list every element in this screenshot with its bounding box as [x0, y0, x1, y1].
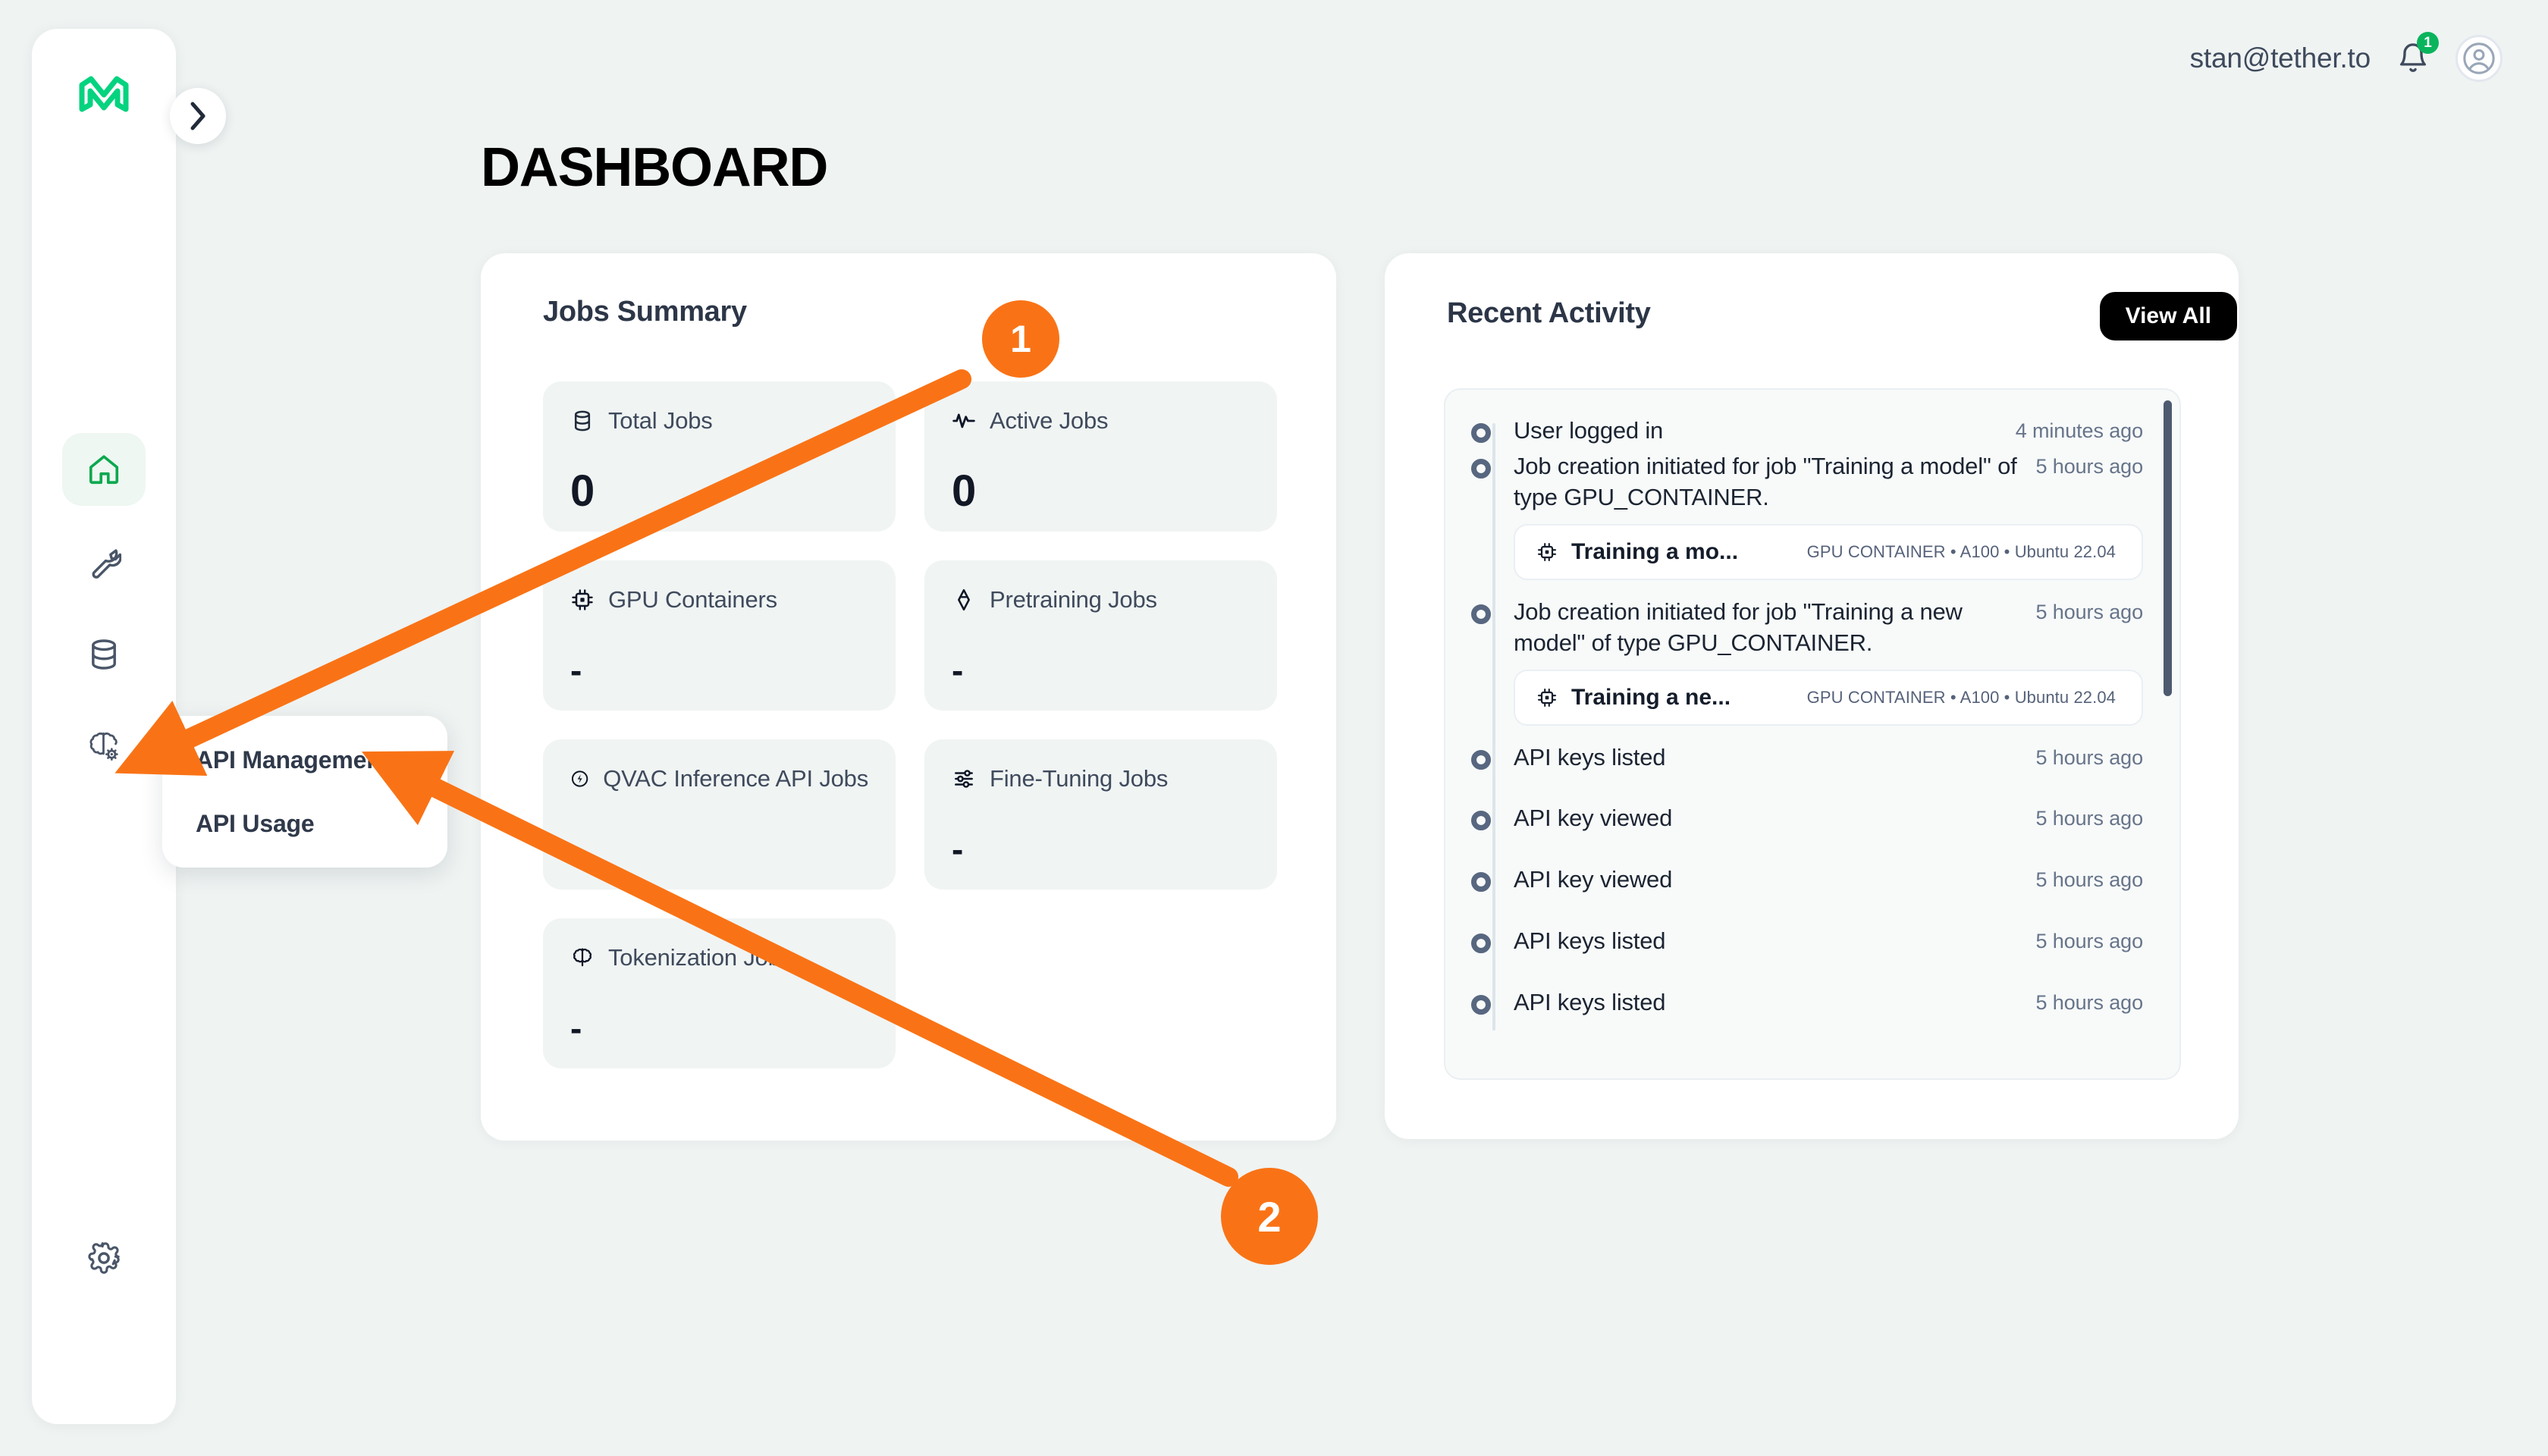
gear-icon [86, 1241, 121, 1276]
cpu-icon [1536, 541, 1558, 563]
page-title: DASHBOARD [481, 136, 827, 199]
stat-tile-total-jobs[interactable]: Total Jobs 0 [543, 381, 896, 532]
view-all-button[interactable]: View All [2100, 292, 2237, 340]
job-chip-meta: GPU CONTAINER • A100 • Ubuntu 22.04 [1807, 688, 2116, 708]
home-icon [86, 452, 121, 487]
sidebar-item-settings[interactable] [32, 1212, 176, 1304]
stat-tile-label: Tokenization Jobs [608, 944, 792, 971]
timeline-dot-icon [1471, 750, 1491, 770]
sidebar-logo[interactable] [32, 76, 176, 114]
brain-icon [570, 946, 595, 970]
activity-time: 5 hours ago [2035, 451, 2143, 479]
activity-time: 5 hours ago [2035, 864, 2143, 892]
cpu-icon [570, 588, 595, 612]
api-management-flyout-menu: API Management API Usage [162, 716, 447, 868]
stat-tile-value: - [952, 653, 963, 688]
timeline-dot-icon [1471, 811, 1491, 830]
activity-text: API key viewed [1514, 864, 1672, 896]
stat-tile-value: - [952, 832, 963, 867]
stat-tile-label: Active Jobs [990, 407, 1108, 435]
stat-tile-pretraining-jobs[interactable]: Pretraining Jobs - [924, 560, 1277, 711]
brain-gear-icon [86, 729, 122, 765]
database-icon [570, 409, 595, 433]
recent-activity-title: Recent Activity [1447, 297, 1651, 330]
stat-tile-label: Total Jobs [608, 407, 713, 435]
sidebar-item-api-management[interactable] [32, 701, 176, 793]
sidebar [32, 29, 176, 1424]
activity-feed-scrollbar[interactable] [2164, 400, 2172, 696]
activity-item[interactable]: API keys listed 5 hours ago [1479, 987, 2143, 1018]
app-root: stan@tether.to 1 DASHBOARD Jobs Summary [0, 0, 2548, 1456]
stat-tile-value: - [570, 832, 582, 867]
user-avatar-icon [2462, 41, 2496, 76]
activity-time: 5 hours ago [2035, 926, 2143, 953]
cpu-icon [1536, 687, 1558, 708]
activity-time: 5 hours ago [2035, 803, 2143, 830]
activity-time: 4 minutes ago [2016, 416, 2143, 443]
activity-text: Job creation initiated for job "Training… [1514, 451, 2017, 513]
activity-feed: User logged in 4 minutes ago Job creatio… [1444, 388, 2181, 1080]
wrench-icon [86, 544, 121, 579]
stat-tile-label: Fine-Tuning Jobs [990, 765, 1168, 792]
stat-tile-label: GPU Containers [608, 586, 777, 613]
sidebar-collapse-button[interactable] [170, 88, 226, 144]
sidebar-item-tools[interactable] [32, 516, 176, 608]
timeline-dot-icon [1471, 604, 1491, 624]
timeline-dot-icon [1471, 872, 1491, 892]
stat-tile-fine-tuning-jobs[interactable]: Fine-Tuning Jobs - [924, 739, 1277, 890]
avatar[interactable] [2455, 35, 2502, 82]
stat-tile-tokenization-jobs[interactable]: Tokenization Jobs - [543, 918, 896, 1068]
stat-tile-gpu-containers[interactable]: GPU Containers - [543, 560, 896, 711]
notification-badge: 1 [2417, 32, 2439, 54]
activity-time: 5 hours ago [2035, 987, 2143, 1015]
diamond-icon [952, 588, 976, 612]
activity-item[interactable]: API key viewed 5 hours ago [1479, 803, 2143, 834]
activity-icon [952, 409, 976, 433]
activity-text: API keys listed [1514, 987, 1665, 1018]
activity-text: User logged in [1514, 416, 1663, 447]
activity-item[interactable]: Job creation initiated for job "Training… [1479, 451, 2143, 580]
activity-item[interactable]: API key viewed 5 hours ago [1479, 864, 2143, 896]
stat-tile-value: - [570, 653, 582, 688]
activity-item[interactable]: API keys listed 5 hours ago [1479, 742, 2143, 773]
sidebar-nav [32, 423, 176, 793]
activity-time: 5 hours ago [2035, 742, 2143, 770]
stat-tile-active-jobs[interactable]: Active Jobs 0 [924, 381, 1277, 532]
sidebar-item-storage[interactable] [32, 608, 176, 701]
chevron-right-icon [188, 100, 208, 132]
tether-infinity-logo [76, 76, 132, 114]
sidebar-item-dashboard[interactable] [32, 423, 176, 516]
jobs-summary-title: Jobs Summary [543, 296, 747, 328]
timeline-dot-icon [1471, 423, 1491, 443]
activity-text: API keys listed [1514, 742, 1665, 773]
job-chip-name: Training a mo... [1571, 539, 1738, 565]
job-chip-meta: GPU CONTAINER • A100 • Ubuntu 22.04 [1807, 542, 2116, 562]
activity-item[interactable]: User logged in 4 minutes ago [1479, 416, 2143, 447]
database-icon [86, 637, 121, 672]
sliders-icon [952, 767, 976, 791]
timeline-dot-icon [1471, 459, 1491, 479]
activity-time: 5 hours ago [2035, 597, 2143, 624]
activity-item[interactable]: API keys listed 5 hours ago [1479, 926, 2143, 957]
topbar: stan@tether.to 1 [2190, 35, 2502, 82]
flyout-item-api-management[interactable]: API Management [196, 748, 414, 772]
annotation-marker-2: 2 [1221, 1168, 1318, 1265]
activity-job-chip[interactable]: Training a mo... GPU CONTAINER • A100 • … [1514, 524, 2143, 580]
notifications-button[interactable]: 1 [2392, 37, 2434, 80]
stat-tile-value: - [570, 1011, 582, 1046]
stat-tile-label: Pretraining Jobs [990, 586, 1157, 613]
stat-tile-qvac-inference-api-jobs[interactable]: QVAC Inference API Jobs - [543, 739, 896, 890]
activity-text: API keys listed [1514, 926, 1665, 957]
user-email-label: stan@tether.to [2190, 42, 2371, 74]
bolt-circle-icon [570, 767, 589, 791]
annotation-marker-1: 1 [982, 300, 1059, 378]
stat-tile-value: 0 [570, 469, 595, 513]
job-chip-name: Training a ne... [1571, 685, 1731, 711]
activity-job-chip[interactable]: Training a ne... GPU CONTAINER • A100 • … [1514, 670, 2143, 726]
jobs-summary-tiles: Total Jobs 0 Active Jobs 0 [543, 381, 1277, 1068]
activity-item[interactable]: Job creation initiated for job "Training… [1479, 597, 2143, 726]
stat-tile-label: QVAC Inference API Jobs [603, 765, 868, 792]
flyout-item-api-usage[interactable]: API Usage [196, 811, 414, 836]
timeline-dot-icon [1471, 995, 1491, 1015]
activity-text: API key viewed [1514, 803, 1672, 834]
activity-text: Job creation initiated for job "Training… [1514, 597, 2017, 659]
stat-tile-value: 0 [952, 469, 976, 513]
timeline-dot-icon [1471, 934, 1491, 953]
